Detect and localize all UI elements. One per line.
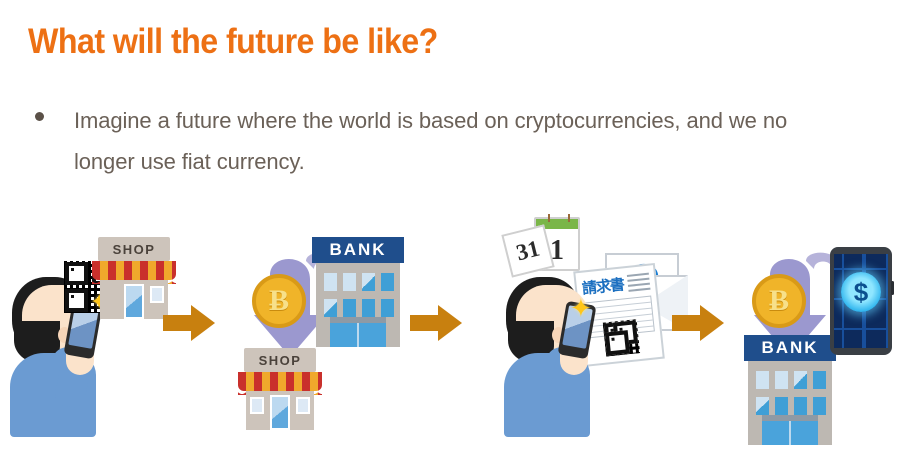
shop-sign-label: SHOP xyxy=(98,237,170,261)
page-title: What will the future be like? xyxy=(28,21,438,63)
illustration-band: ✦ SHOP Ƀ BANK xyxy=(0,205,898,461)
scene-3-calendar-icon: 1 31 xyxy=(506,217,584,275)
scan-sparkle-icon: ✦ xyxy=(570,295,592,321)
scene-2-bank-building: BANK xyxy=(312,237,404,347)
bank-sign-label: BANK xyxy=(744,335,836,361)
bank-sign-label: BANK xyxy=(312,237,404,263)
shop-sign-label: SHOP xyxy=(244,348,316,372)
slide-canvas: What will the future be like? Imagine a … xyxy=(0,0,898,461)
bullet-list-item: Imagine a future where the world is base… xyxy=(35,100,855,182)
dollar-symbol: $ xyxy=(841,272,881,312)
scene-4-digital-currency-phone: $ xyxy=(830,247,892,355)
bullet-text: Imagine a future where the world is base… xyxy=(74,100,849,182)
bitcoin-symbol: Ƀ xyxy=(769,286,789,316)
scene-4-bitcoin-coin-icon: Ƀ xyxy=(752,274,806,328)
scene-4-bank-building: BANK xyxy=(744,335,836,445)
bullet-dot-icon xyxy=(35,112,44,121)
scene-1-shop-building: SHOP xyxy=(92,237,176,319)
scene-2-bitcoin-coin-icon: Ƀ xyxy=(252,274,306,328)
bitcoin-symbol: Ƀ xyxy=(269,286,289,316)
scene-2-shop-building: SHOP xyxy=(238,348,322,430)
